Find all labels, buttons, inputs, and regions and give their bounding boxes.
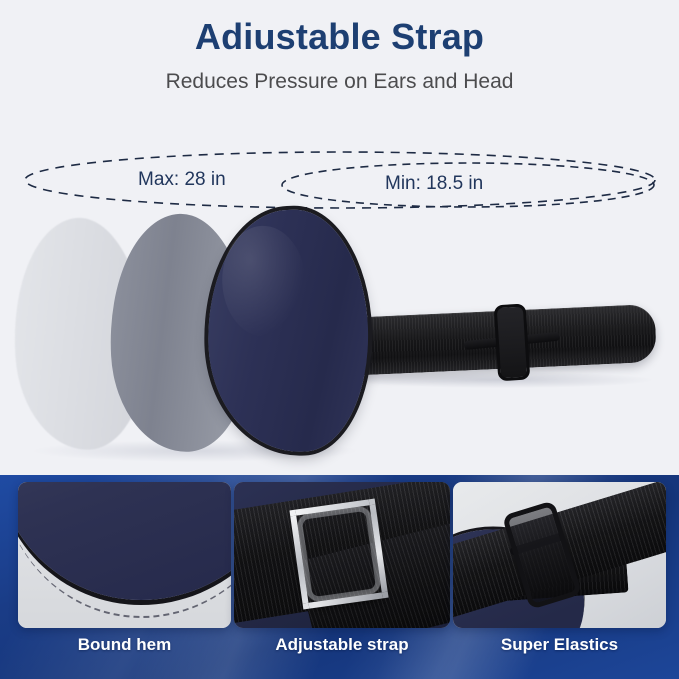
metal-slider-buckle [289, 499, 388, 610]
product-feature-graphic: Adiustable Strap Reduces Pressure on Ear… [0, 0, 679, 679]
page-title: Adiustable Strap [0, 0, 679, 57]
feature-caption-adjustable-strap: Adjustable strap [234, 635, 450, 655]
feature-card-super-elastics [453, 482, 666, 628]
max-length-label: Max: 28 in [138, 169, 226, 191]
feature-cards: Bound hem Adjustable strap Super Elastic… [0, 475, 679, 679]
header: Adiustable Strap Reduces Pressure on Ear… [0, 0, 679, 95]
feature-band: Bound hem Adjustable strap Super Elastic… [0, 475, 679, 679]
feature-card-bound-hem [18, 482, 231, 628]
feature-caption-super-elastics: Super Elastics [453, 635, 666, 655]
metal-slider-inner [296, 505, 382, 602]
feature-card-adjustable-strap [234, 482, 450, 628]
strap-slider-buckle [494, 303, 531, 381]
adjustable-strap [343, 304, 657, 376]
min-length-label: Min: 18.5 in [385, 173, 483, 195]
feature-caption-bound-hem: Bound hem [18, 635, 231, 655]
product-stage [0, 200, 679, 475]
page-subtitle: Reduces Pressure on Ears and Head [0, 57, 679, 94]
